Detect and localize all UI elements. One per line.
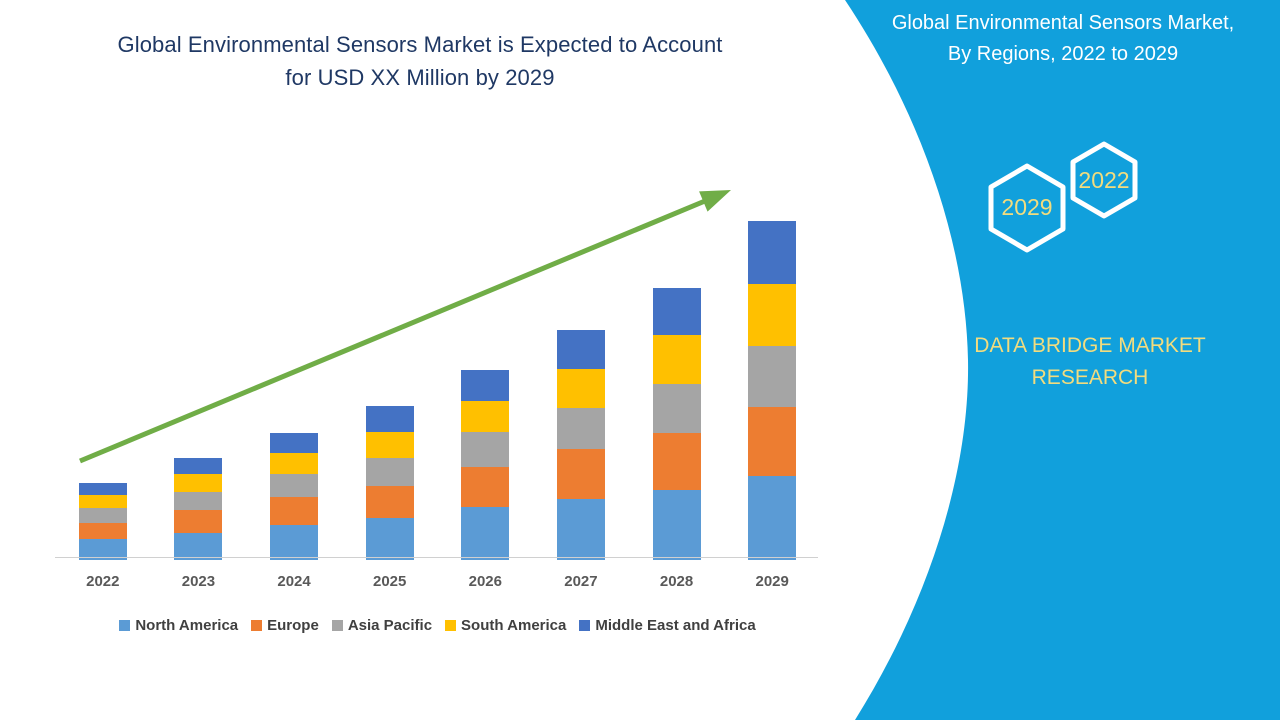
legend-item-4[interactable]: Middle East and Africa [579,617,755,634]
bar-segment[interactable] [653,335,701,383]
bar-segment[interactable] [461,507,509,560]
bar-segment[interactable] [174,510,222,532]
bar-segment[interactable] [557,449,605,499]
bar-segment[interactable] [79,508,127,522]
bar-segment[interactable] [270,474,318,497]
bar-segment[interactable] [557,408,605,449]
bar-column-2026[interactable] [461,370,509,560]
bar-segment[interactable] [366,486,414,518]
bar-segment[interactable] [270,497,318,524]
bar-segment[interactable] [461,370,509,401]
hexagon-2029-label: 2029 [1001,194,1052,220]
bar-segment[interactable] [174,474,222,491]
bar-segment[interactable] [174,533,222,560]
bar-column-2025[interactable] [366,406,414,560]
legend-label: North America [135,617,238,634]
brand-name-line1: DATA BRIDGE MARKET [940,330,1240,362]
legend-label: Asia Pacific [348,617,432,634]
legend-item-3[interactable]: South America [445,617,566,634]
x-axis-label-2028: 2028 [642,573,712,590]
bar-segment[interactable] [366,406,414,431]
bar-column-2024[interactable] [270,433,318,561]
legend-swatch-icon [579,620,590,631]
legend-item-0[interactable]: North America [119,617,238,634]
brand-name-line2: RESEARCH [940,362,1240,394]
bar-segment[interactable] [366,518,414,560]
hexagon-badges: 2029 2022 [970,140,1190,295]
bar-segment[interactable] [461,467,509,508]
legend-swatch-icon [119,620,130,631]
bar-segment[interactable] [748,284,796,346]
bar-column-2023[interactable] [174,458,222,561]
bar-segment[interactable] [270,525,318,560]
bar-column-2022[interactable] [79,483,127,560]
legend-label: Europe [267,617,319,634]
legend-swatch-icon [251,620,262,631]
page-title-line2: for USD XX Million by 2029 [40,61,800,94]
bar-segment[interactable] [270,453,318,474]
x-axis-label-2022: 2022 [68,573,138,590]
page-title-line1: Global Environmental Sensors Market is E… [40,28,800,61]
x-axis-label-2027: 2027 [546,573,616,590]
bar-segment[interactable] [79,483,127,495]
bar-column-2029[interactable] [748,221,796,560]
legend-item-1[interactable]: Europe [251,617,319,634]
hexagon-2022-label: 2022 [1078,167,1129,193]
bar-segment[interactable] [557,369,605,408]
bar-segment[interactable] [748,221,796,283]
legend-swatch-icon [445,620,456,631]
page-title: Global Environmental Sensors Market is E… [40,28,800,94]
bar-segment[interactable] [653,490,701,560]
chart-legend: North AmericaEuropeAsia PacificSouth Ame… [55,617,820,634]
infographic-canvas: Global Environmental Sensors Market is E… [0,0,1280,720]
bar-segment[interactable] [174,492,222,511]
bar-segment[interactable] [653,384,701,433]
x-axis-label-2024: 2024 [259,573,329,590]
bar-segment[interactable] [653,288,701,335]
bar-segment[interactable] [557,330,605,369]
bar-segment[interactable] [79,495,127,508]
bar-segment[interactable] [461,401,509,433]
bar-segment[interactable] [748,407,796,476]
bar-segment[interactable] [174,458,222,475]
bar-segment[interactable] [366,458,414,486]
bar-segment[interactable] [366,432,414,459]
legend-item-2[interactable]: Asia Pacific [332,617,432,634]
x-axis-label-2026: 2026 [450,573,520,590]
x-axis-label-2025: 2025 [355,573,425,590]
brand-title: Global Environmental Sensors Market, By … [846,8,1280,70]
bar-segment[interactable] [748,346,796,408]
bar-column-2027[interactable] [557,330,605,560]
chart-panel: Global Environmental Sensors Market is E… [0,0,840,720]
legend-label: Middle East and Africa [595,617,755,634]
x-axis-label-2029: 2029 [737,573,807,590]
x-axis-line [55,557,818,558]
brand-title-line2: By Regions, 2022 to 2029 [846,39,1280,70]
legend-swatch-icon [332,620,343,631]
brand-panel: Global Environmental Sensors Market, By … [820,0,1280,720]
legend-label: South America [461,617,566,634]
bar-segment[interactable] [748,476,796,560]
bar-segment[interactable] [557,499,605,560]
bar-segment[interactable] [653,433,701,490]
brand-title-line1: Global Environmental Sensors Market, [846,8,1280,39]
brand-name: DATA BRIDGE MARKET RESEARCH [940,330,1240,394]
x-axis-label-2023: 2023 [163,573,233,590]
bar-segment[interactable] [270,433,318,454]
bar-column-2028[interactable] [653,288,701,560]
stacked-bar-plot [55,150,820,560]
bar-segment[interactable] [461,432,509,466]
x-axis-tick-labels: 20222023202420252026202720282029 [55,573,820,601]
bar-segment[interactable] [79,523,127,539]
